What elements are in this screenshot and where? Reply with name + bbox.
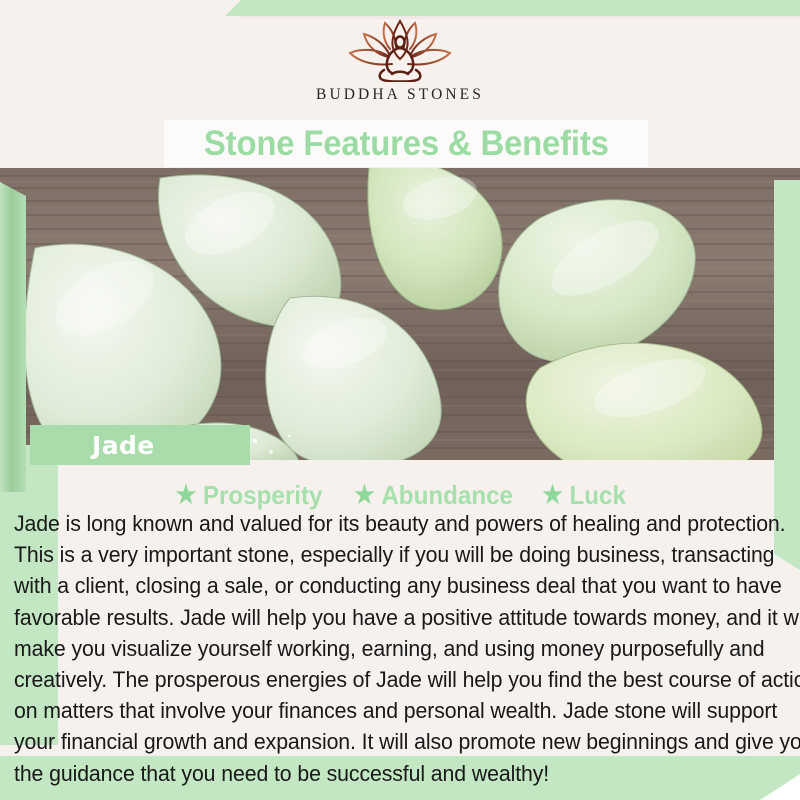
keyword-item: ★ Luck xyxy=(543,480,627,511)
keyword-row: ★ Prosperity ★ Abundance ★ Luck xyxy=(0,480,800,511)
description-line: on matters that involve your finances an… xyxy=(14,695,747,726)
description-line: This is a very important stone, especial… xyxy=(14,539,747,570)
star-icon: ★ xyxy=(543,483,564,508)
stone-name: Jade xyxy=(92,431,155,460)
keyword-label: Luck xyxy=(570,480,626,511)
description-line: with a client, closing a sale, or conduc… xyxy=(14,570,747,601)
title-banner: Stone Features & Benefits xyxy=(164,120,648,167)
keyword-item: ★ Prosperity xyxy=(176,480,323,511)
lotus-meditation-icon xyxy=(336,18,464,82)
brand-name: BUDDHA STONES xyxy=(316,86,484,104)
keyword-label: Prosperity xyxy=(203,480,323,511)
frame-left-green-strip xyxy=(0,182,26,492)
stone-info-poster: BUDDHA STONES Stone Features & Benefits xyxy=(0,0,800,800)
description-line: make you visualize yourself working, ear… xyxy=(14,633,747,664)
page-title: Stone Features & Benefits xyxy=(204,124,609,164)
description-line: the guidance that you need to be success… xyxy=(14,758,747,789)
description-line: favorable results. Jade will help you ha… xyxy=(14,602,747,633)
brand-header: BUDDHA STONES xyxy=(0,0,800,120)
description-text: Jade is long known and valued for its be… xyxy=(14,508,786,789)
keyword-item: ★ Abundance xyxy=(354,480,513,511)
stone-name-banner: Jade xyxy=(30,425,250,465)
description-line: your financial growth and expansion. It … xyxy=(14,726,747,757)
description-line: Jade is long known and valued for its be… xyxy=(14,508,747,539)
description-line: creatively. The prosperous energies of J… xyxy=(14,664,747,695)
star-icon: ★ xyxy=(176,483,197,508)
star-icon: ★ xyxy=(354,483,375,508)
keyword-label: Abundance xyxy=(382,480,514,511)
jade-stones-photo xyxy=(0,168,800,460)
